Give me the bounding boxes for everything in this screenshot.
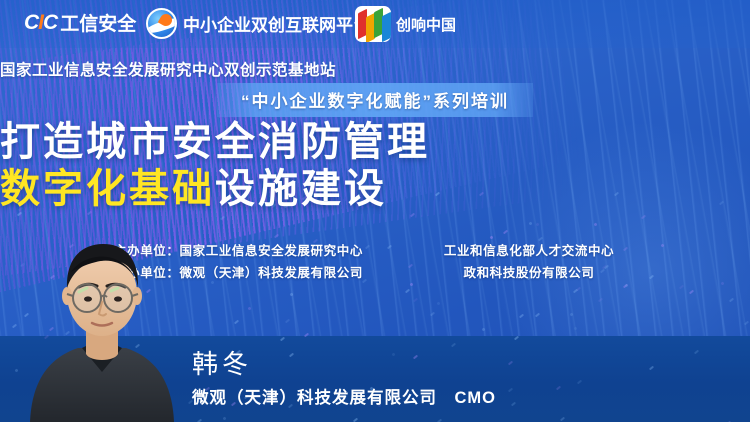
speaker-role: 微观（天津）科技发展有限公司 CMO [192,384,496,408]
title-line-2-rest: 设施建设 [215,167,387,211]
speaker-name: 韩冬 [192,348,496,380]
co-host-left-name: 微观（天津）科技发展有限公司 [180,266,363,280]
logo-chuangxiang-china-label: 创响中国 [396,14,456,35]
cic-letter-c-right: C [43,12,57,33]
cic-monogram-icon: CIC [24,12,57,33]
page-title: 打造城市安全消防管理 数字化基础设施建设 [0,119,750,213]
host-left-name: 国家工业信息安全发展研究中心 [180,244,363,258]
title-line-2-highlight: 数字化基础 [0,167,215,211]
logo-sme-platform: 中小企业双创互联网平台 [146,8,370,39]
logo-row: CIC 工信安全 中小企业双创互联网平台 创响中国 [0,9,750,41]
logo-sme-platform-label: 中小企业双创互联网平台 [183,11,370,36]
series-subtitle-wrap: “中小企业数字化赋能”系列培训 [0,83,750,117]
speaker-photo [26,232,178,422]
host-right-name: 工业和信息化部人才交流中心 [414,240,644,262]
training-poster: CIC 工信安全 中小企业双创互联网平台 创响中国 国家工业信息安全发展研究中心… [0,0,750,422]
co-host-right-name: 政和科技股份有限公司 [414,262,644,284]
series-subtitle: “中小企业数字化赋能”系列培训 [217,83,533,117]
logo-chuangxiang-china: 创响中国 [355,6,456,42]
title-line-1: 打造城市安全消防管理 [0,120,430,164]
color-cube-icon [355,6,391,42]
speaker-info: 韩冬 微观（天津）科技发展有限公司 CMO [192,348,496,408]
organizer-line: 国家工业信息安全发展研究中心双创示范基地站 [0,58,750,80]
globe-swoosh-icon [146,8,177,39]
cic-letter-c-left: C [24,12,38,33]
logo-cic: CIC 工信安全 [24,9,136,36]
logo-cic-label: 工信安全 [60,9,136,36]
title-line-2: 数字化基础设施建设 [0,166,750,213]
